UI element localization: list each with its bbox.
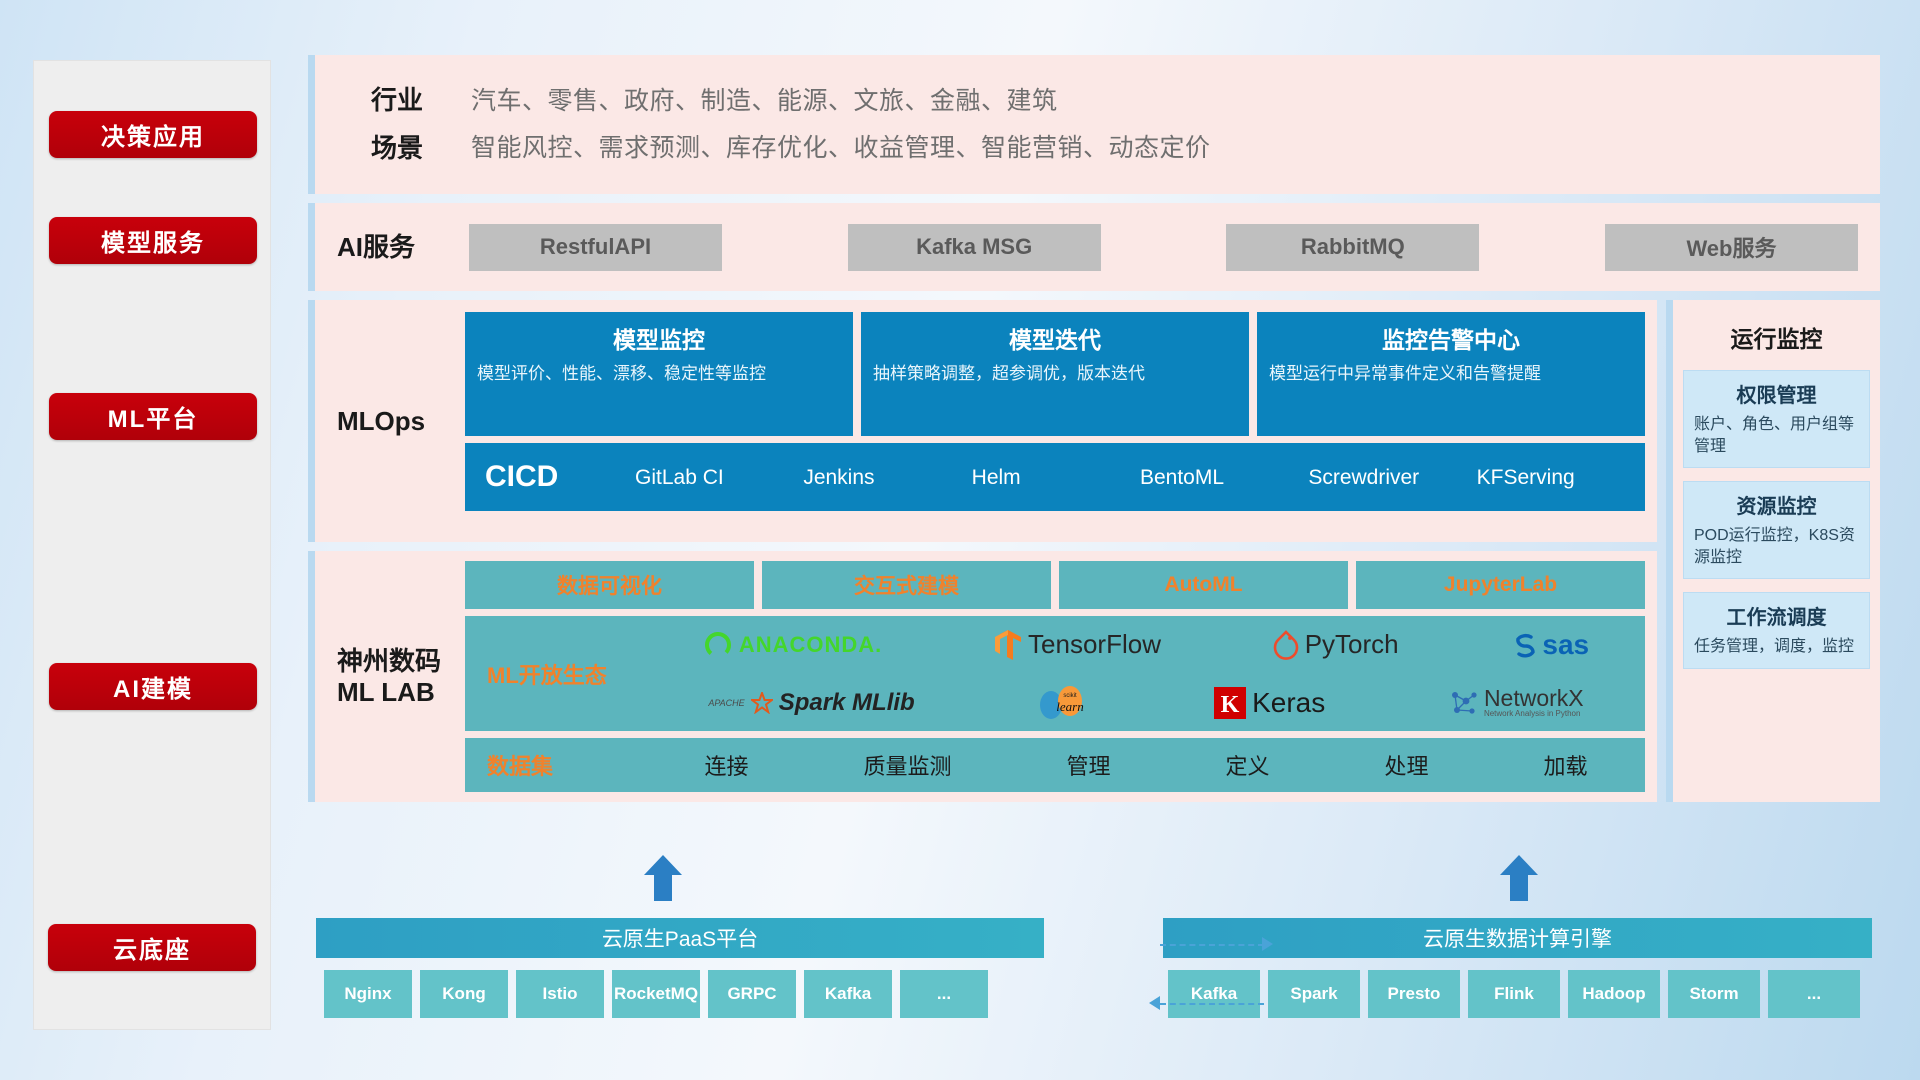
spark-apache-label: APACHE xyxy=(708,698,744,708)
ecosystem-logos: ANACONDA. TensorFlow xyxy=(647,617,1645,731)
dataset-item-manage[interactable]: 管理 xyxy=(1066,749,1110,781)
service-chip-kafka-msg[interactable]: Kafka MSG xyxy=(848,224,1101,271)
keras-logo: K Keras xyxy=(1214,687,1325,719)
dataset-item-define[interactable]: 定义 xyxy=(1225,749,1269,781)
tab-jupyterlab[interactable]: JupyterLab xyxy=(1356,561,1645,609)
card-desc: 账户、角色、用户组等管理 xyxy=(1694,414,1859,457)
platform-left: MLOps 模型监控 模型评价、性能、漂移、稳定性等监控 模型迭代 抽样策略调整… xyxy=(308,300,1657,802)
pytorch-label: PyTorch xyxy=(1305,629,1399,660)
cloud-base-section: 云原生PaaS平台 云原生数据计算引擎 Nginx Kong Istio Roc… xyxy=(308,890,1880,1030)
runtime-monitor-column: 运行监控 权限管理 账户、角色、用户组等管理 资源监控 POD运行监控，K8S资… xyxy=(1666,300,1880,802)
ml-lab-band: 神州数码 ML LAB 数据可视化 交互式建模 AutoML JupyterLa… xyxy=(308,551,1657,802)
anaconda-logo: ANACONDA. xyxy=(703,630,882,660)
mlops-content: 模型监控 模型评价、性能、漂移、稳定性等监控 模型迭代 抽样策略调整，超参调优，… xyxy=(465,312,1645,530)
monitor-card-workflow[interactable]: 工作流调度 任务管理，调度，监控 xyxy=(1683,592,1870,669)
tech-chip-kong[interactable]: Kong xyxy=(420,970,508,1018)
ml-lab-tabs: 数据可视化 交互式建模 AutoML JupyterLab xyxy=(465,561,1645,609)
dataset-item-connect[interactable]: 连接 xyxy=(704,749,748,781)
stage-chip-model-service[interactable]: 模型服务 xyxy=(49,217,257,264)
tech-chip-flink[interactable]: Flink xyxy=(1468,970,1560,1018)
mlops-cards: 模型监控 模型评价、性能、漂移、稳定性等监控 模型迭代 抽样策略调整，超参调优，… xyxy=(465,312,1645,436)
mlops-label: MLOps xyxy=(337,406,425,437)
arrow-head xyxy=(644,855,682,875)
sas-icon xyxy=(1510,631,1536,659)
scikit-learn-icon: scikit learn xyxy=(1037,685,1091,721)
card-desc: POD运行监控，K8S资源监控 xyxy=(1694,525,1859,568)
application-band: 行业 场景 汽车、零售、政府、制造、能源、文旅、金融、建筑 智能风控、需求预测、… xyxy=(308,55,1880,194)
tech-chip-istio[interactable]: Istio xyxy=(516,970,604,1018)
paas-tech-chips: Nginx Kong Istio RocketMQ GRPC Kafka ... xyxy=(324,970,988,1018)
tensorflow-logo: TensorFlow xyxy=(994,629,1161,661)
application-labels: 行业 场景 xyxy=(337,68,457,180)
cicd-item-kfserving[interactable]: KFServing xyxy=(1477,467,1645,488)
networkx-logo: NetworkX Network Analysis in Python xyxy=(1448,687,1584,718)
scenario-label: 场景 xyxy=(337,133,457,164)
tech-chip-kafka-data[interactable]: Kafka xyxy=(1168,970,1260,1018)
card-title: 监控告警中心 xyxy=(1269,321,1633,355)
platform-section: MLOps 模型监控 模型评价、性能、漂移、稳定性等监控 模型迭代 抽样策略调整… xyxy=(308,300,1880,802)
sas-label: sas xyxy=(1542,629,1589,661)
card-title: 权限管理 xyxy=(1694,379,1859,408)
application-values: 汽车、零售、政府、制造、能源、文旅、金融、建筑 智能风控、需求预测、库存优化、收… xyxy=(457,67,1858,183)
stage-chip-ml-platform[interactable]: ML平台 xyxy=(49,393,257,440)
cicd-item-gitlab-ci[interactable]: GitLab CI xyxy=(635,467,803,488)
spark-mllib-label: Spark MLlib xyxy=(779,689,915,717)
ml-lab-label-col: 神州数码 ML LAB xyxy=(337,561,465,792)
monitor-card-permission[interactable]: 权限管理 账户、角色、用户组等管理 xyxy=(1683,370,1870,468)
dataset-label: 数据集 xyxy=(487,749,647,781)
sas-logo: sas xyxy=(1510,629,1589,661)
svg-text:K: K xyxy=(1221,692,1240,718)
industry-label: 行业 xyxy=(337,85,457,116)
dataset-item-load[interactable]: 加载 xyxy=(1543,749,1587,781)
ai-service-chips: RestfulAPI Kafka MSG RabbitMQ Web服务 xyxy=(461,224,1858,271)
tech-chip-storm[interactable]: Storm xyxy=(1668,970,1760,1018)
cicd-item-screwdriver[interactable]: Screwdriver xyxy=(1308,467,1476,488)
industry-value: 汽车、零售、政府、制造、能源、文旅、金融、建筑 xyxy=(471,89,1858,114)
tech-chip-nginx[interactable]: Nginx xyxy=(324,970,412,1018)
dataset-items: 连接 质量监测 管理 定义 处理 加载 xyxy=(647,749,1645,781)
data-engine-tech-chips: Kafka Spark Presto Flink Hadoop Storm ..… xyxy=(1168,970,1860,1018)
cicd-item-helm[interactable]: Helm xyxy=(972,467,1140,488)
ml-lab-label: 神州数码 ML LAB xyxy=(337,646,441,707)
stage-chip-cloud-base[interactable]: 云底座 xyxy=(48,924,256,971)
tech-chip-grpc[interactable]: GRPC xyxy=(708,970,796,1018)
card-title: 模型迭代 xyxy=(873,321,1237,355)
card-desc: 任务管理，调度，监控 xyxy=(1694,636,1859,658)
pytorch-icon xyxy=(1273,630,1299,660)
networkx-sublabel: Network Analysis in Python xyxy=(1484,710,1584,718)
dashed-arrow-left-icon xyxy=(1149,996,1160,1010)
tech-chip-hadoop[interactable]: Hadoop xyxy=(1568,970,1660,1018)
stage-rail: 决策应用 模型服务 ML平台 AI建模 xyxy=(33,60,271,1030)
mlops-card-model-iteration[interactable]: 模型迭代 抽样策略调整，超参调优，版本迭代 xyxy=(861,312,1249,436)
mlops-label-col: MLOps xyxy=(337,312,465,530)
dataset-item-quality-monitor[interactable]: 质量监测 xyxy=(863,749,951,781)
architecture-diagram: 决策应用 模型服务 ML平台 AI建模 云底座 行业 场景 汽车、零售、政府、制… xyxy=(0,0,1920,1080)
scikit-learn-logo: scikit learn xyxy=(1037,685,1091,721)
pytorch-logo: PyTorch xyxy=(1273,629,1399,660)
stage-chip-ai-modeling[interactable]: AI建模 xyxy=(49,663,257,710)
dashed-connector-top xyxy=(1160,944,1264,946)
arrow-head xyxy=(1500,855,1538,875)
keras-icon: K xyxy=(1214,687,1246,719)
tech-chip-data-more[interactable]: ... xyxy=(1768,970,1860,1018)
ml-ecosystem-row: ML开放生态 ANACONDA. xyxy=(465,616,1645,730)
cicd-item-bentoml[interactable]: BentoML xyxy=(1140,467,1308,488)
card-title: 模型监控 xyxy=(477,321,841,355)
tab-automl[interactable]: AutoML xyxy=(1059,561,1348,609)
card-title: 工作流调度 xyxy=(1694,601,1859,630)
tech-chip-presto[interactable]: Presto xyxy=(1368,970,1460,1018)
mlops-band: MLOps 模型监控 模型评价、性能、漂移、稳定性等监控 模型迭代 抽样策略调整… xyxy=(308,300,1657,542)
tech-chip-paas-more[interactable]: ... xyxy=(900,970,988,1018)
stage-chip-decision-app[interactable]: 决策应用 xyxy=(49,111,257,158)
ai-service-label-col: AI服务 xyxy=(337,232,461,263)
keras-label: Keras xyxy=(1252,687,1325,719)
tab-interactive-modeling[interactable]: 交互式建模 xyxy=(762,561,1051,609)
ai-service-band: AI服务 RestfulAPI Kafka MSG RabbitMQ Web服务 xyxy=(308,203,1880,291)
ai-service-label: AI服务 xyxy=(337,232,461,263)
spark-mllib-logo: APACHE Spark MLlib xyxy=(708,689,914,717)
cicd-item-jenkins[interactable]: Jenkins xyxy=(803,467,971,488)
scenario-value: 智能风控、需求预测、库存优化、收益管理、智能营销、动态定价 xyxy=(471,136,1858,161)
mlops-card-model-monitoring[interactable]: 模型监控 模型评价、性能、漂移、稳定性等监控 xyxy=(465,312,853,436)
tab-data-visualization[interactable]: 数据可视化 xyxy=(465,561,754,609)
mlops-card-alert-center[interactable]: 监控告警中心 模型运行中异常事件定义和告警提醒 xyxy=(1257,312,1645,436)
cicd-title: CICD xyxy=(485,460,635,494)
svg-text:learn: learn xyxy=(1057,699,1084,714)
tech-chip-spark[interactable]: Spark xyxy=(1268,970,1360,1018)
dashed-arrow-right-icon xyxy=(1262,937,1273,951)
tensorflow-icon xyxy=(994,629,1022,661)
dashed-connector-bottom xyxy=(1160,1003,1264,1005)
ecosystem-label: ML开放生态 xyxy=(487,658,647,690)
monitor-card-resource[interactable]: 资源监控 POD运行监控，K8S资源监控 xyxy=(1683,481,1870,579)
service-chip-rabbitmq[interactable]: RabbitMQ xyxy=(1226,224,1479,271)
tech-chip-rocketmq[interactable]: RocketMQ xyxy=(612,970,700,1018)
ml-lab-content: 数据可视化 交互式建模 AutoML JupyterLab ML开放生态 xyxy=(465,561,1645,792)
paas-strip[interactable]: 云原生PaaS平台 xyxy=(316,918,1044,958)
service-chip-restfulapi[interactable]: RestfulAPI xyxy=(469,224,722,271)
networkx-label: NetworkX xyxy=(1484,687,1584,710)
tensorflow-label: TensorFlow xyxy=(1028,629,1161,660)
dataset-item-process[interactable]: 处理 xyxy=(1384,749,1428,781)
card-desc: 模型评价、性能、漂移、稳定性等监控 xyxy=(477,363,841,385)
networkx-icon xyxy=(1448,689,1478,717)
spark-star-icon xyxy=(751,692,773,714)
card-title: 资源监控 xyxy=(1694,490,1859,519)
card-desc: 抽样策略调整，超参调优，版本迭代 xyxy=(873,363,1237,385)
anaconda-icon xyxy=(703,630,733,660)
card-desc: 模型运行中异常事件定义和告警提醒 xyxy=(1269,363,1633,385)
dataset-row: 数据集 连接 质量监测 管理 定义 处理 加载 xyxy=(465,738,1645,792)
runtime-monitor-title: 运行监控 xyxy=(1683,320,1870,354)
tech-chip-kafka[interactable]: Kafka xyxy=(804,970,892,1018)
ecosystem-logos-row-2: APACHE Spark MLlib xyxy=(647,675,1645,731)
ecosystem-logos-row-1: ANACONDA. TensorFlow xyxy=(647,617,1645,673)
anaconda-label: ANACONDA. xyxy=(739,632,882,658)
service-chip-web-service[interactable]: Web服务 xyxy=(1605,224,1858,271)
main-column: 行业 场景 汽车、零售、政府、制造、能源、文旅、金融、建筑 智能风控、需求预测、… xyxy=(308,55,1880,802)
cicd-bar: CICD GitLab CI Jenkins Helm BentoML Scre… xyxy=(465,443,1645,511)
